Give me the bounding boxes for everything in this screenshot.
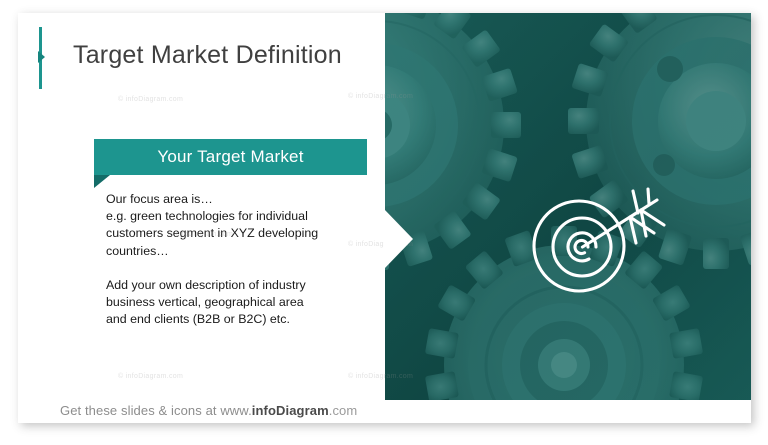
content-panel: Target Market Definition Your Target Mar… bbox=[18, 13, 385, 400]
slide-root: Target Market Definition Your Target Mar… bbox=[0, 0, 768, 445]
chevron-right-notch-icon bbox=[384, 209, 414, 269]
body-line: countries… bbox=[106, 243, 356, 260]
banner-fold-shape bbox=[94, 175, 110, 188]
slide-canvas: Target Market Definition Your Target Mar… bbox=[18, 13, 751, 423]
watermark: © infoDiagram.com bbox=[118, 373, 183, 380]
paragraph-gap bbox=[106, 260, 356, 277]
footer-prefix: Get these slides & icons at www. bbox=[60, 403, 252, 418]
body-line: customers segment in XYZ developing bbox=[106, 225, 356, 242]
footer-brand: infoDiagram bbox=[252, 403, 329, 418]
body-line: e.g. green technologies for individual bbox=[106, 208, 356, 225]
body-line: and end clients (B2B or B2C) etc. bbox=[106, 311, 356, 328]
body-line: Our focus area is… bbox=[106, 191, 356, 208]
accent-arrow-icon bbox=[38, 51, 45, 63]
footer: Get these slides & icons at www.infoDiag… bbox=[18, 400, 751, 423]
target-market-banner[interactable]: Your Target Market bbox=[94, 139, 367, 175]
footer-credit: Get these slides & icons at www.infoDiag… bbox=[60, 403, 357, 418]
body-text: Our focus area is… e.g. green technologi… bbox=[106, 191, 356, 328]
target-arrow-icon bbox=[518, 173, 688, 303]
footer-suffix: .com bbox=[329, 403, 358, 418]
body-line: business vertical, geographical area bbox=[106, 294, 356, 311]
body-line: Add your own description of industry bbox=[106, 277, 356, 294]
watermark: © infoDiagram.com bbox=[118, 96, 183, 103]
page-title: Target Market Definition bbox=[73, 41, 342, 70]
banner-label: Your Target Market bbox=[94, 139, 367, 175]
